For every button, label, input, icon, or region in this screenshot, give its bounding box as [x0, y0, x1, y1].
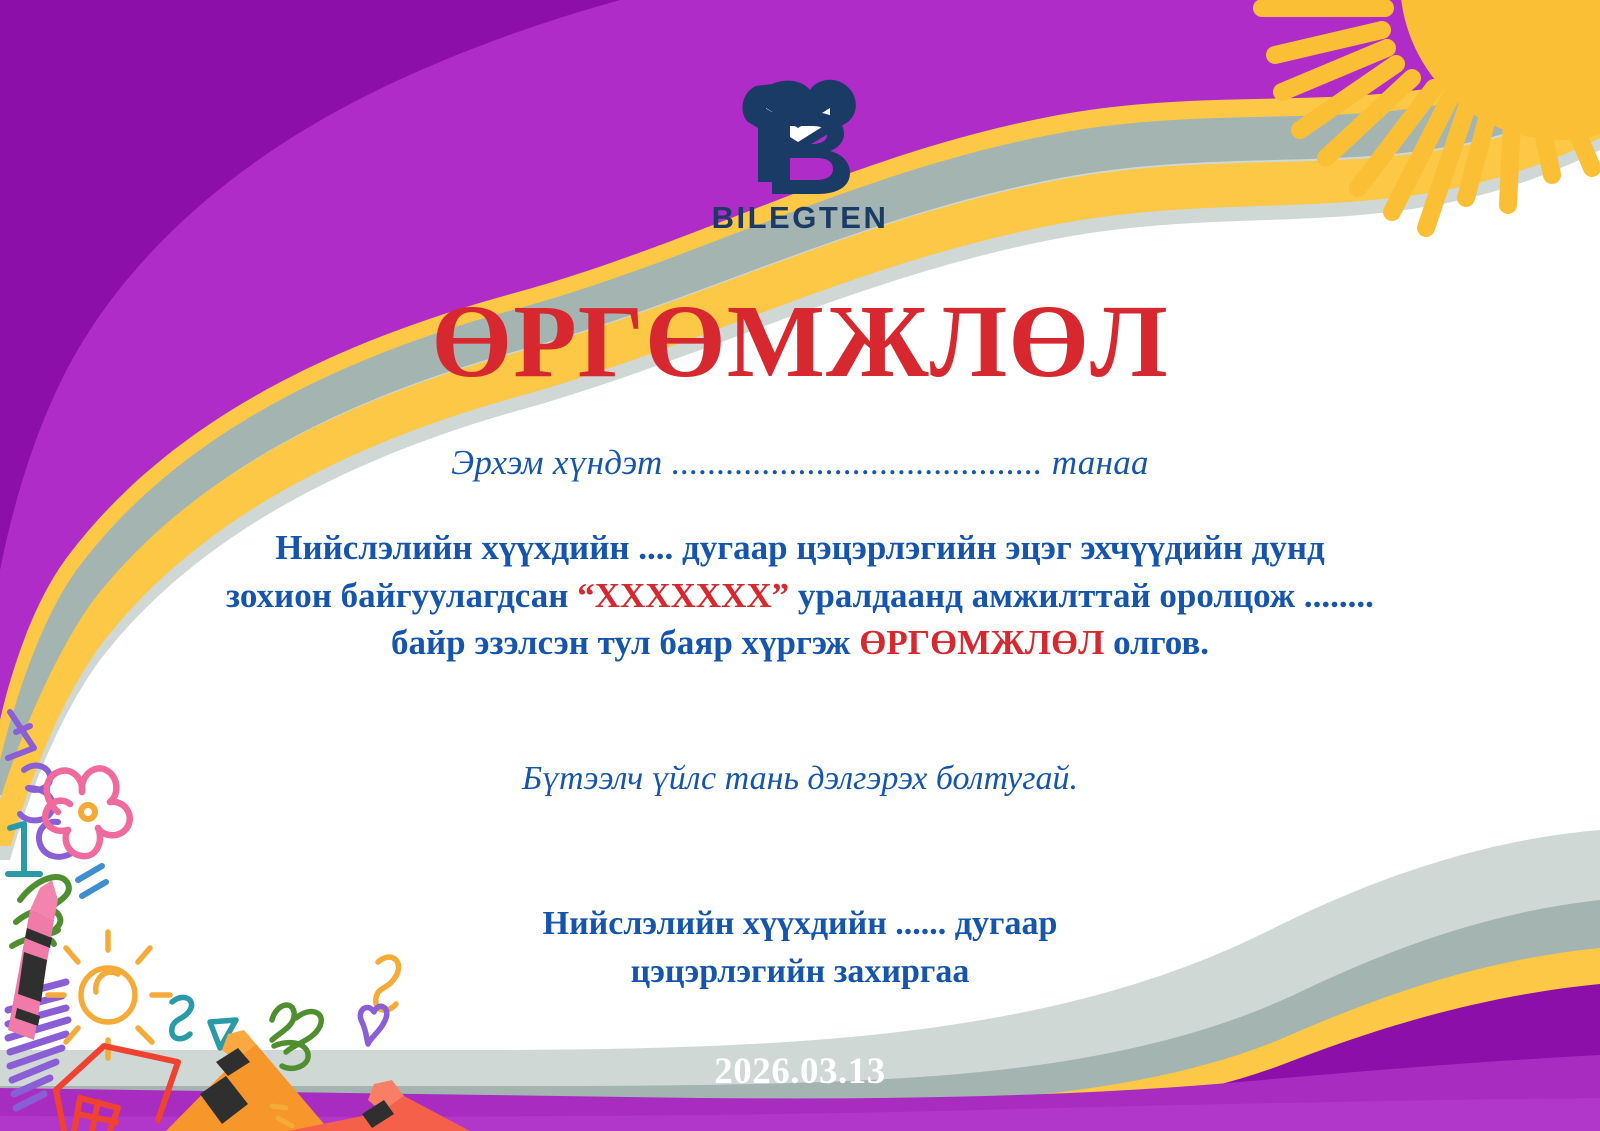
certificate-date: 2026.03.13 — [0, 1050, 1600, 1093]
triangle-doodle — [210, 1020, 236, 1048]
teal-squiggle-doodle — [172, 997, 192, 1038]
certificate-page: BILEGTEN ӨРГӨМЖЛӨЛ Эрхэм хүндэт ........… — [0, 0, 1600, 1131]
flower-center-doodle — [81, 805, 95, 819]
certificate-body: Нийслэлийн хүүхдийн .... дугаар цэцэрлэг… — [180, 524, 1420, 667]
salutation-line: Эрхэм хүндэт ...........................… — [0, 443, 1600, 483]
body-line-3-part1: байр эзэлсэн тул баяр хүргэж — [391, 623, 859, 662]
body-line-2-part1: зохион байгуулагдсан — [226, 576, 577, 615]
signature-line-1: Нийслэлийн хүүхдийн ...... дугаар — [0, 900, 1600, 948]
signature-line-2: цэцэрлэгийн захиргаа — [0, 948, 1600, 996]
signature-block: Нийслэлийн хүүхдийн ...... дугаар цэцэрл… — [0, 900, 1600, 997]
bottom-right-wave-light-purple-streak — [0, 1098, 1600, 1131]
body-award-word: ӨРГӨМЖЛӨЛ — [859, 623, 1104, 662]
body-line-2: зохион байгуулагдсан “ХХХХХХХ” уралдаанд… — [180, 572, 1420, 620]
body-line-2-part2: уралдаанд амжилттай оролцож ........ — [789, 576, 1374, 615]
number-one-doodle — [8, 824, 40, 874]
logo-block: BILEGTEN — [0, 78, 1600, 236]
sun-ray-2 — [1275, 30, 1382, 55]
body-competition-name: “ХХХХХХХ” — [577, 576, 789, 615]
coral-crayon-band — [362, 1100, 394, 1128]
certificate-title: ӨРГӨМЖЛӨЛ — [0, 288, 1600, 396]
body-line-3: байр эзэлсэн тул баяр хүргэж ӨРГӨМЖЛӨЛ о… — [180, 619, 1420, 667]
body-line-3-part2: олгов. — [1104, 623, 1209, 662]
yellow-spark-doodle — [272, 1106, 292, 1126]
pink-crayon-band-bottom — [15, 1008, 40, 1026]
heart-doodle — [360, 1006, 386, 1044]
blue-dash-doodle — [78, 866, 106, 896]
logo-wordmark: BILEGTEN — [0, 200, 1600, 236]
body-line-1: Нийслэлийн хүүхдийн .... дугаар цэцэрлэг… — [180, 524, 1420, 572]
coral-crayon-body — [288, 1096, 470, 1131]
wish-line: Бүтээлч үйлс тань дэлгэрэх болтугай. — [0, 760, 1600, 798]
bilegten-book-b-logo-icon — [736, 78, 864, 196]
